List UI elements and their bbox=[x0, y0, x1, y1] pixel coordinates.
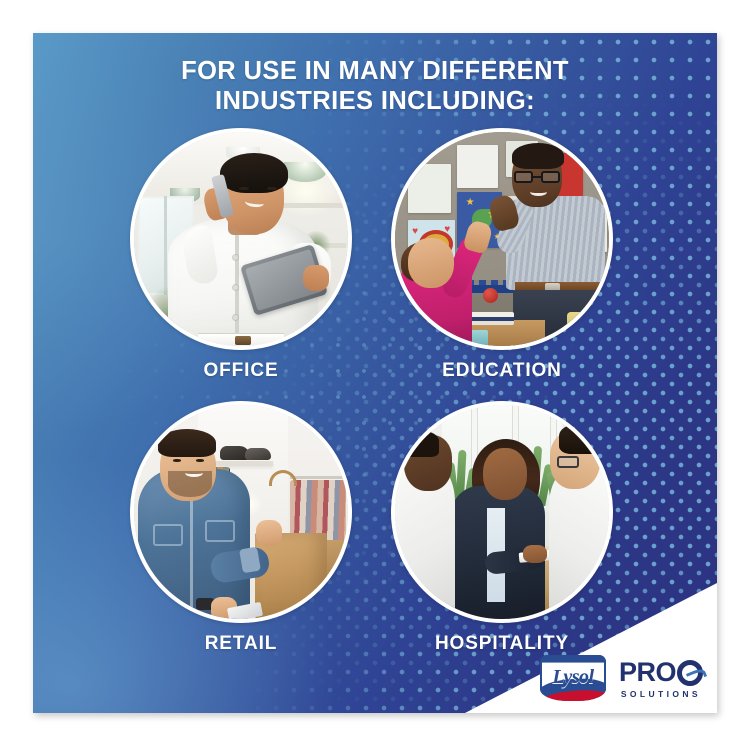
headline-line-1: FOR USE IN MANY DIFFERENT bbox=[181, 57, 569, 85]
industry-label-office: OFFICE bbox=[90, 360, 392, 382]
pro-subtitle: SOLUTIONS bbox=[619, 689, 703, 699]
pro-wordmark: PRO bbox=[619, 660, 676, 685]
industry-label-education: EDUCATION bbox=[351, 360, 653, 382]
industry-card-hospitality: HOSPITALITY bbox=[391, 401, 613, 623]
page-title: FOR USE IN MANY DIFFERENT INDUSTRIES INC… bbox=[33, 57, 717, 116]
brand-logo-bar: Lysol PRO SOLUTIONS bbox=[540, 655, 703, 701]
lysol-wordmark: Lysol bbox=[540, 666, 606, 689]
industry-photo-office bbox=[130, 128, 352, 350]
poster-canvas: FOR USE IN MANY DIFFERENT INDUSTRIES INC… bbox=[33, 33, 717, 713]
office-photo-illustration bbox=[134, 132, 348, 346]
education-photo-illustration: ★★ ★★ ★★ ♥♥♥ bbox=[395, 132, 609, 346]
lysol-logo: Lysol bbox=[540, 655, 606, 701]
pro-solutions-logo: PRO SOLUTIONS bbox=[619, 658, 703, 699]
industry-photo-education: ★★ ★★ ★★ ♥♥♥ bbox=[391, 128, 613, 350]
retail-photo-illustration bbox=[134, 405, 348, 619]
hospitality-photo-illustration bbox=[395, 405, 609, 619]
industry-photo-retail bbox=[130, 401, 352, 623]
headline-line-2: INDUSTRIES INCLUDING: bbox=[33, 87, 717, 117]
industry-card-retail: RETAIL bbox=[130, 401, 352, 623]
industry-label-retail: RETAIL bbox=[90, 633, 392, 655]
pro-o-ring-icon bbox=[677, 660, 703, 686]
industry-card-office: OFFICE bbox=[130, 128, 352, 350]
industry-photo-hospitality bbox=[391, 401, 613, 623]
industry-card-education: ★★ ★★ ★★ ♥♥♥ bbox=[391, 128, 613, 350]
